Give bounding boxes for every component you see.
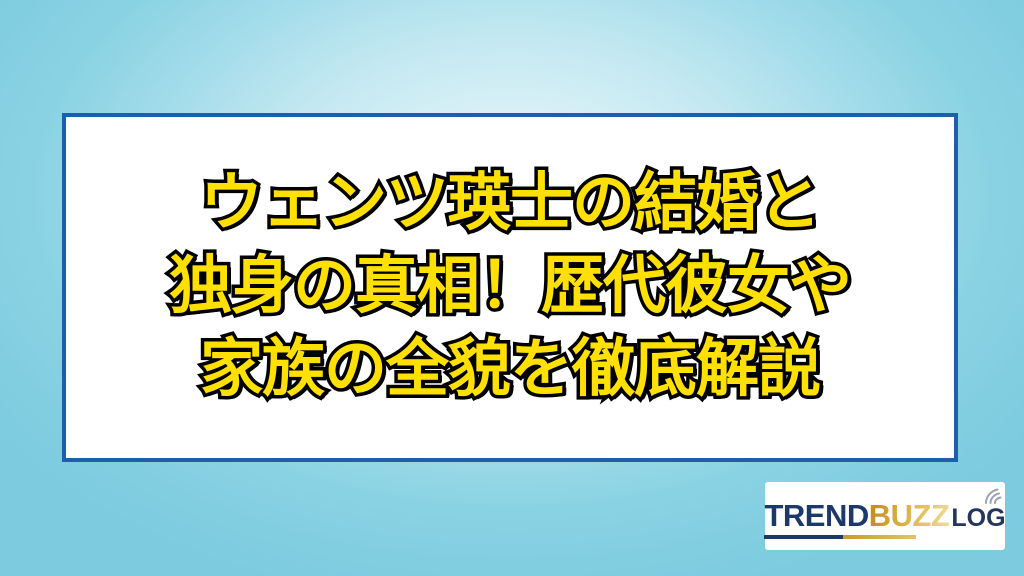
title-line-1: ウェンツ瑛士の結婚と — [66, 161, 954, 244]
logo-word-buzz: BUZZ — [869, 500, 950, 531]
wifi-signal-icon — [982, 483, 1008, 505]
brand-logo-badge[interactable]: TREND BUZZ LOG — [765, 482, 1005, 550]
title-line-3: 家族の全貌を徹底解説 — [66, 327, 954, 410]
title-line-2: 独身の真相！歴代彼女や — [66, 244, 954, 327]
title-card: ウェンツ瑛士の結婚と 独身の真相！歴代彼女や 家族の全貌を徹底解説 — [62, 113, 958, 462]
thumbnail-canvas: ウェンツ瑛士の結婚と 独身の真相！歴代彼女や 家族の全貌を徹底解説 TREND … — [0, 0, 1024, 576]
logo-inner: TREND BUZZ LOG — [764, 500, 1005, 531]
logo-wordmark: TREND BUZZ LOG — [764, 500, 1005, 531]
logo-word-log: LOG — [951, 506, 1005, 531]
logo-underline-bar — [764, 535, 916, 539]
logo-word-trend: TREND — [764, 500, 868, 531]
title-block: ウェンツ瑛士の結婚と 独身の真相！歴代彼女や 家族の全貌を徹底解説 — [66, 161, 954, 414]
